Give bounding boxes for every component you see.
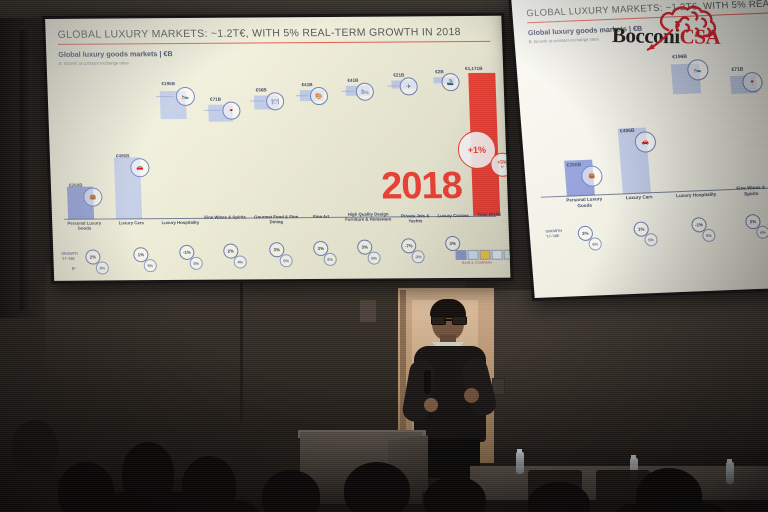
connector-line [296, 95, 308, 96]
hotel-bed-icon-right: 🛌 [687, 59, 710, 81]
chef-icon: 🍽 [266, 92, 285, 110]
value-label-personal-luxury-goods-right: €260B [566, 162, 581, 169]
value-label-fine-art: €41B [301, 82, 312, 87]
slide-subtitle: Global luxury goods markets | €B [58, 47, 490, 59]
glasses-lens-left [431, 316, 446, 325]
slide-content-right: GLOBAL LUXURY MARKETS: ~1.2T€, WITH 5% R… [511, 0, 768, 298]
growth-real-design-furniture: 6% [367, 252, 380, 265]
real-growth-note: B* [501, 166, 504, 169]
value-label-personal-luxury-goods: €260B [69, 183, 83, 188]
footer-icon-4 [491, 250, 502, 260]
slide-footer-icon-strip [455, 249, 510, 260]
category-axis-labels: Personal Luxury Goods Luxury Cars Luxury… [64, 218, 497, 243]
growth-label-1-right: GROWTH [545, 229, 562, 234]
right-wall [468, 290, 768, 450]
growth-real-luxury-cars-right: 5% [644, 233, 658, 246]
handbag-icon: 👜 [83, 188, 103, 207]
presentation-room-photo: GLOBAL LUXURY MARKETS: ~1.2T€, WITH 5% R… [0, 0, 768, 512]
slide-content-left: GLOBAL LUXURY MARKETS: ~1.2T€, WITH 5% R… [45, 16, 510, 281]
growth-real-luxury-cars: 5% [144, 259, 157, 272]
connector-line [204, 110, 220, 111]
value-label-fine-wines-spirits-right: €71B [731, 67, 743, 73]
audience-silhouettes [158, 500, 262, 512]
cat-luxury-hospitality: Luxury Hospitality [160, 220, 200, 226]
growth-real-fine-art: 6% [323, 253, 336, 266]
cat-luxury-hospitality-right: Luxury Hospitality [675, 192, 717, 199]
growth-label-2-right: '17-'18E [546, 234, 560, 239]
big-year-label: 2018 [380, 165, 462, 209]
slide-footnote: B: Growth at constant exchange rates [59, 58, 491, 66]
value-label-luxury-hospitality-right: €196B [672, 54, 687, 61]
water-bottle-cap [631, 455, 636, 459]
footer-icon-3 [479, 250, 490, 260]
audience-silhouettes [58, 462, 114, 512]
value-label-luxury-cars: €496B [116, 153, 130, 158]
growth-real-fine-wines-spirits-right: 4% [756, 226, 768, 239]
value-label-gourmet-food: €56B [256, 87, 267, 92]
audience-silhouettes [344, 462, 410, 512]
mid-wall-seam [240, 272, 243, 422]
connector-line [342, 91, 354, 92]
growth-real-personal-luxury-goods: 6% [96, 261, 109, 274]
connector-line [388, 85, 398, 86]
growth-real-fine-wines-spirits: 4% [233, 255, 246, 268]
wall-column [20, 30, 32, 310]
growth-label-1: GROWTH [61, 252, 78, 256]
cat-luxury-cars: Luxury Cars [110, 220, 152, 226]
jet-icon: ✈ [399, 77, 418, 95]
handbag-icon-right: 👜 [581, 165, 604, 187]
growth-real-luxury-hospitality-right: 5% [702, 229, 716, 242]
bar-chart-plot: €260B €496B €196B €71B €56B €41B €41B €2… [59, 67, 496, 220]
growth-row-label-right: GROWTH '17-'18E [545, 229, 562, 239]
slide-footer-brand: BAIN & COMPANY [462, 261, 493, 265]
cat-luxury-cruises: Luxury Cruises [436, 213, 470, 219]
cat-luxury-cars-right: Luxury Cars [617, 194, 661, 201]
cat-total-2018e: Total 2018E [470, 212, 508, 218]
value-label-design-furniture: €41B [347, 78, 358, 83]
growth-real-private-jets-yachts: -3% [411, 250, 424, 263]
audience-silhouettes [610, 504, 730, 512]
presenter-hand-left [424, 398, 438, 412]
connector-line [156, 96, 174, 97]
connector-line [250, 100, 264, 101]
growth-label-3: B* [72, 267, 76, 272]
value-label-fine-wines-spirits: €71B [210, 97, 221, 102]
glasses-bridge [444, 319, 452, 321]
art-palette-icon: 🎨 [310, 87, 329, 105]
value-label-luxury-cars-right: €496B [620, 128, 635, 135]
value-label-luxury-hospitality: €196B [161, 81, 175, 86]
right-projection-screen: GLOBAL LUXURY MARKETS: ~1.2T€, WITH 5% R… [508, 0, 768, 301]
growth-real-personal-luxury-goods-right: 6% [588, 237, 602, 250]
slide-title-right: GLOBAL LUXURY MARKETS: ~1.2T€, WITH 5% R… [526, 0, 768, 19]
wall-vent [360, 300, 376, 322]
cat-fine-art: Fine Art [306, 214, 336, 220]
growth-label-2: '17-'18E [61, 256, 74, 260]
growth-real-luxury-hospitality: 5% [189, 257, 202, 270]
value-label-private-jets-yachts: €21B [393, 72, 404, 77]
car-icon-right: 🚗 [634, 131, 657, 153]
slide-title-rule [58, 41, 490, 45]
cat-personal-luxury-goods: Personal Luxury Goods [64, 220, 104, 231]
cruise-ship-icon: 🚢 [441, 73, 460, 91]
presenter-hand-right [464, 388, 479, 403]
growth-rates-row: GROWTH '17-'18E B* 2% 6% 1% 5% -1% 5% 2%… [65, 240, 498, 277]
footer-icon-5 [503, 250, 510, 260]
bar-chart-plot-right: €260B €496B €196B €71B €56B 👜 🚗 🛌 🍷 🍽 [529, 37, 768, 198]
hotel-bed-icon: 🛌 [176, 87, 196, 106]
water-bottle [726, 462, 734, 484]
growth-row-label: GROWTH '17-'18E [61, 252, 78, 261]
cat-gourmet-food: Gourmet Food & Fine Dining [250, 214, 302, 225]
cat-design-furniture: High Quality Design Furniture & Homeware [340, 211, 396, 222]
footer-icon-2 [467, 250, 478, 260]
left-projection-screen: GLOBAL LUXURY MARKETS: ~1.2T€, WITH 5% R… [42, 13, 514, 284]
wine-bottle-icon: 🍷 [222, 102, 241, 120]
footer-icon-1 [455, 250, 466, 260]
cat-personal-luxury-goods-right: Personal Luxury Goods [563, 196, 606, 209]
car-icon: 🚗 [130, 158, 150, 177]
audience-silhouettes [12, 420, 58, 474]
water-bottle [516, 452, 524, 474]
water-bottle-cap [517, 449, 522, 453]
cat-private-jets-yachts: Private Jets & Yachts [398, 213, 432, 224]
value-label-luxury-cruises: €2B [435, 69, 444, 74]
glasses-icon [431, 316, 465, 323]
slide-title: GLOBAL LUXURY MARKETS: ~1.2T€, WITH 5% R… [57, 26, 490, 41]
water-bottle-cap [727, 459, 732, 463]
growth-nominal-luxury-cruises: 3% [445, 236, 461, 251]
wine-bottle-icon-right: 🍷 [742, 72, 764, 93]
cat-fine-wines-spirits-right: Fine Wines & Spirits [729, 184, 768, 197]
microphone-icon [424, 370, 431, 394]
glasses-lens-right [452, 316, 467, 325]
cat-fine-wines-spirits: Fine Wines & Spirits [204, 215, 246, 221]
sofa-icon: 🛏 [356, 83, 375, 101]
growth-real-gourmet-food: 5% [279, 254, 292, 267]
value-label-total-2018e: €1,171B [465, 66, 483, 71]
